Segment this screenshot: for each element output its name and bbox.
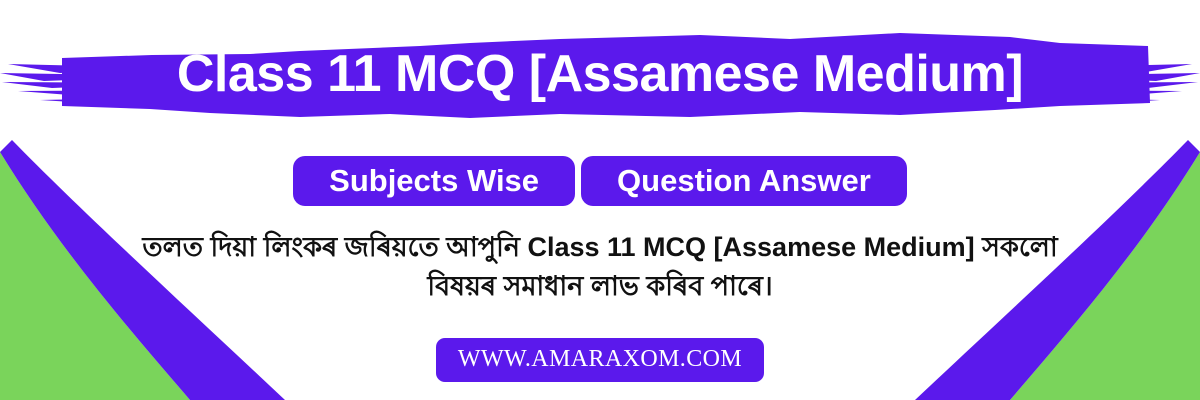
description-line-1: তলত দিয়া লিংকৰ জৰিয়তে আপুনি Class 11 M… — [70, 228, 1130, 267]
question-answer-button[interactable]: Question Answer — [581, 156, 907, 206]
promo-banner: Class 11 MCQ [Assamese Medium] Subjects … — [0, 0, 1200, 400]
description-line-2: বিষয়ৰ সমাধান লাভ কৰিব পাৰে। — [70, 267, 1130, 306]
page-title: Class 11 MCQ [Assamese Medium] — [0, 24, 1200, 124]
website-url-wrapper: WWW.AMARAXOM.COM — [0, 338, 1200, 382]
subjects-wise-button[interactable]: Subjects Wise — [293, 156, 575, 206]
description-text: তলত দিয়া লিংকৰ জৰিয়তে আপুনি Class 11 M… — [70, 228, 1130, 306]
button-row: Subjects Wise Question Answer — [0, 156, 1200, 206]
title-banner: Class 11 MCQ [Assamese Medium] — [0, 24, 1200, 124]
website-url-chip[interactable]: WWW.AMARAXOM.COM — [436, 338, 764, 382]
